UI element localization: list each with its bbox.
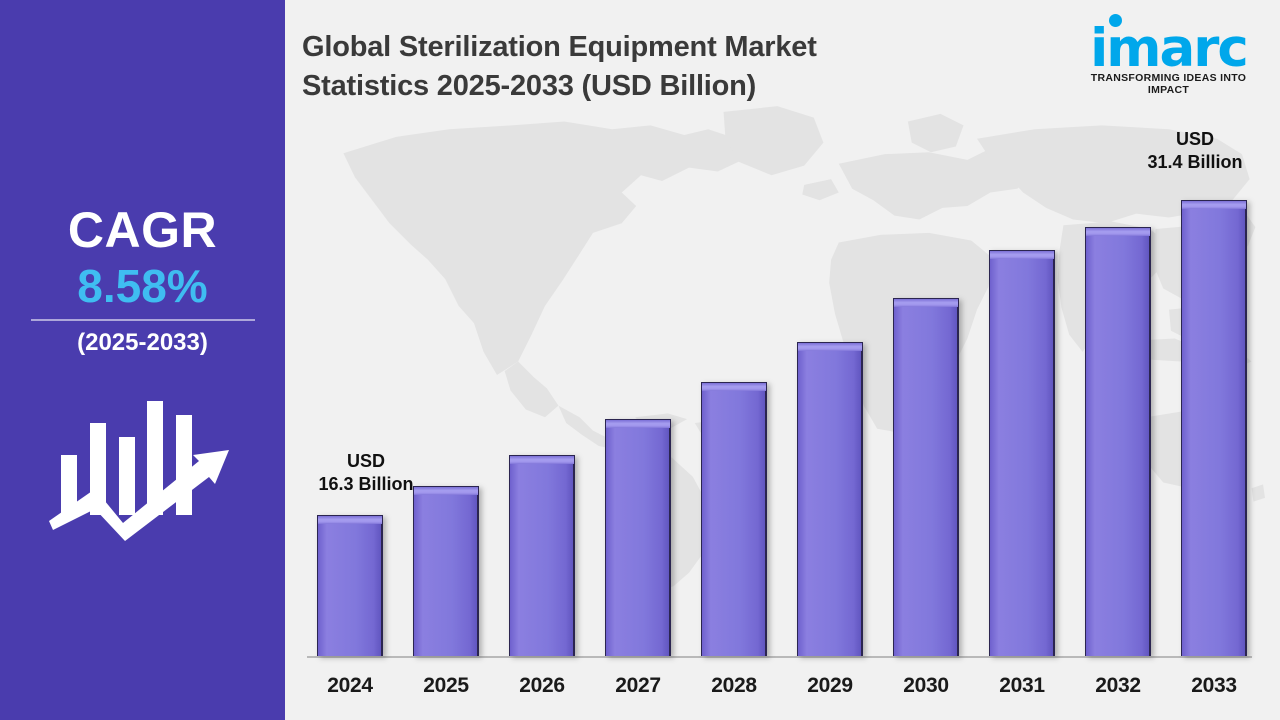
cagr-sidebar: CAGR 8.58% (2025-2033): [0, 0, 285, 720]
bar-chart-growth-arrow-icon: [43, 393, 243, 543]
bar-2024[interactable]: [317, 515, 383, 656]
bar-group: 2032: [1085, 0, 1151, 720]
x-axis-label-2033: 2033: [1181, 674, 1247, 698]
x-axis-label-2027: 2027: [605, 674, 671, 698]
bar-top-cap: [413, 486, 479, 495]
x-axis-label-2031: 2031: [989, 674, 1055, 698]
cagr-period-label: (2025-2033): [77, 331, 208, 355]
bar-2028[interactable]: [701, 382, 767, 657]
x-axis-label-2030: 2030: [893, 674, 959, 698]
bar-top-cap: [1181, 200, 1247, 209]
bar-group: 2025: [413, 0, 479, 720]
bar-group: 2031: [989, 0, 1055, 720]
x-axis-label-2025: 2025: [413, 674, 479, 698]
bar-group: 2033: [1181, 0, 1247, 720]
bar-top-cap: [989, 250, 1055, 259]
cagr-divider: [31, 319, 255, 321]
bar-top-cap: [1085, 227, 1151, 236]
bar-top-cap: [701, 382, 767, 391]
bar-2029[interactable]: [797, 342, 863, 656]
bar-top-cap: [797, 342, 863, 351]
bar-group: 2028: [701, 0, 767, 720]
bar-group: 2027: [605, 0, 671, 720]
bar-group: 2030: [893, 0, 959, 720]
x-axis-label-2024: 2024: [317, 674, 383, 698]
bar-group: 2026: [509, 0, 575, 720]
bar-top-cap: [605, 419, 671, 428]
bar-top-cap: [509, 455, 575, 464]
bar-2025[interactable]: [413, 486, 479, 656]
x-axis-label-2026: 2026: [509, 674, 575, 698]
x-axis-label-2028: 2028: [701, 674, 767, 698]
bar-2030[interactable]: [893, 298, 959, 656]
bar-2032[interactable]: [1085, 227, 1151, 656]
bar-top-cap: [893, 298, 959, 307]
x-axis-label-2032: 2032: [1085, 674, 1151, 698]
bar-group: 2024: [317, 0, 383, 720]
cagr-label: CAGR: [68, 205, 217, 255]
bar-top-cap: [317, 515, 383, 524]
x-axis-label-2029: 2029: [797, 674, 863, 698]
cagr-value: 8.58%: [77, 263, 207, 309]
bar-2027[interactable]: [605, 419, 671, 656]
bar-2026[interactable]: [509, 455, 575, 656]
bar-2031[interactable]: [989, 250, 1055, 656]
chart-panel: Global Sterilization Equipment Market St…: [285, 0, 1280, 720]
bar-2033[interactable]: [1181, 200, 1247, 656]
bar-group: 2029: [797, 0, 863, 720]
bar-chart: USD16.3 Billion USD31.4 Billion 20242025…: [285, 0, 1280, 720]
